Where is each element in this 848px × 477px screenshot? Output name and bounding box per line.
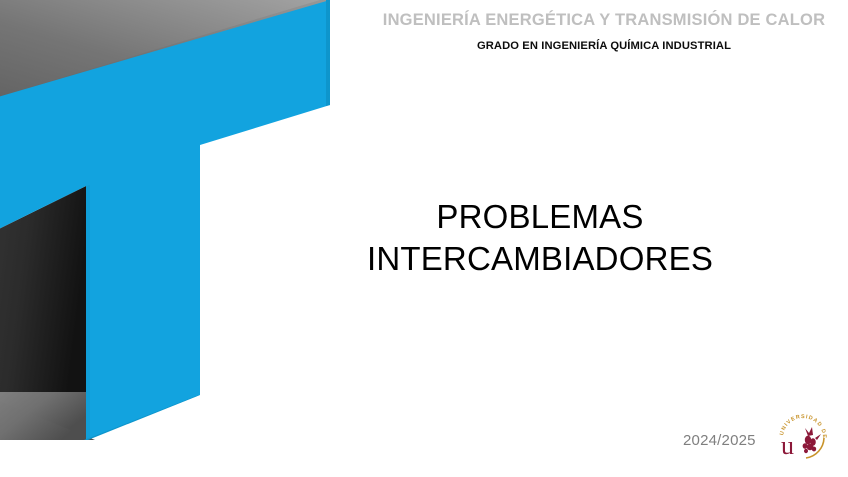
header-block: INGENIERÍA ENERGÉTICA Y TRANSMISIÓN DE C… bbox=[360, 10, 848, 53]
academic-year-label: 2024/2025 bbox=[683, 432, 756, 449]
degree-title: GRADO EN INGENIERÍA QUÍMICA INDUSTRIAL bbox=[360, 39, 848, 53]
t-stem-left-edge bbox=[86, 185, 90, 440]
course-title: INGENIERÍA ENERGÉTICA Y TRANSMISIÓN DE C… bbox=[360, 10, 848, 31]
three-d-letter-t-icon bbox=[0, 0, 360, 477]
page-title: PROBLEMAS INTERCAMBIADORES bbox=[340, 196, 740, 280]
slide-canvas: INGENIERÍA ENERGÉTICA Y TRANSMISIÓN DE C… bbox=[0, 0, 848, 477]
t-front-right-edge bbox=[326, 0, 330, 106]
page-title-line-1: PROBLEMAS bbox=[340, 196, 740, 238]
universidad-de-sevilla-seal-icon: UNIVERSIDAD DE SEVILLA u bbox=[775, 408, 831, 464]
seal-ornament bbox=[803, 427, 821, 453]
page-title-line-2: INTERCAMBIADORES bbox=[340, 238, 740, 280]
seal-monogram: u bbox=[781, 431, 794, 460]
decorative-artwork-panel bbox=[0, 0, 360, 477]
